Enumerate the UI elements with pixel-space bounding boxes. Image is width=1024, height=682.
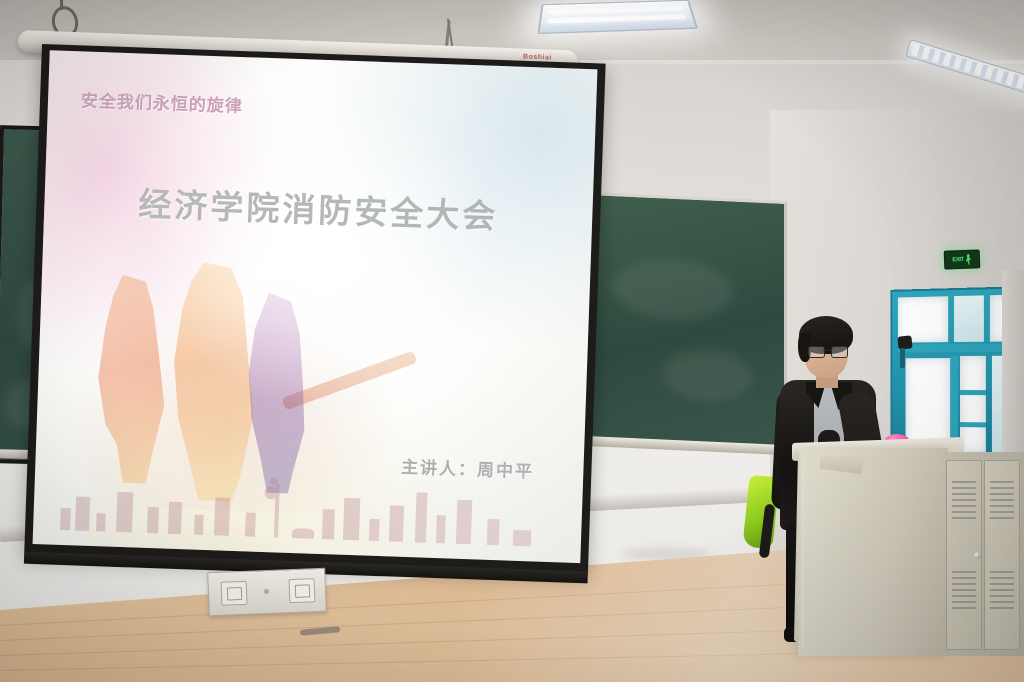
cabinet-vent bbox=[990, 571, 1014, 609]
running-person-icon bbox=[965, 254, 971, 265]
projector-hotspot bbox=[136, 103, 508, 422]
emergency-exit-sign: EXIT bbox=[944, 249, 981, 269]
door-lock-icon[interactable] bbox=[897, 335, 912, 349]
window-mullion bbox=[898, 343, 1018, 352]
door-handle[interactable] bbox=[900, 348, 905, 368]
lecture-podium[interactable] bbox=[798, 448, 948, 656]
door-glass-pane bbox=[906, 358, 951, 450]
metal-cabinet[interactable] bbox=[944, 452, 1024, 656]
cabinet-lock-icon[interactable] bbox=[974, 552, 981, 559]
window-mullion bbox=[960, 422, 986, 427]
window-mullion bbox=[960, 390, 986, 395]
projection-screen[interactable]: 安全我们永恒的旋律 经济学院消防安全大会 主讲人：周中平 bbox=[24, 44, 605, 573]
cabinet-door-right[interactable] bbox=[984, 460, 1020, 650]
classroom-photo-scene: EXIT Boshiai bbox=[0, 0, 1024, 682]
exit-sign-label: EXIT bbox=[952, 256, 964, 262]
eyeglasses-icon bbox=[808, 346, 846, 356]
plate-screw bbox=[264, 589, 269, 594]
blackboard-right bbox=[568, 191, 787, 452]
wall-outlet-plate[interactable] bbox=[207, 568, 327, 616]
window-pane bbox=[954, 295, 984, 342]
cabinet-vent bbox=[990, 481, 1014, 519]
power-socket[interactable] bbox=[289, 578, 316, 603]
cabinet-vent bbox=[952, 481, 976, 519]
slide-presenter-text: 主讲人：周中平 bbox=[401, 453, 535, 483]
wall-pillar bbox=[1002, 270, 1024, 470]
projected-slide: 安全我们永恒的旋律 经济学院消防安全大会 主讲人：周中平 bbox=[33, 50, 598, 563]
power-socket[interactable] bbox=[221, 581, 248, 606]
cabinet-vent bbox=[952, 571, 976, 609]
recessed-fluorescent-panel-icon bbox=[537, 0, 698, 34]
